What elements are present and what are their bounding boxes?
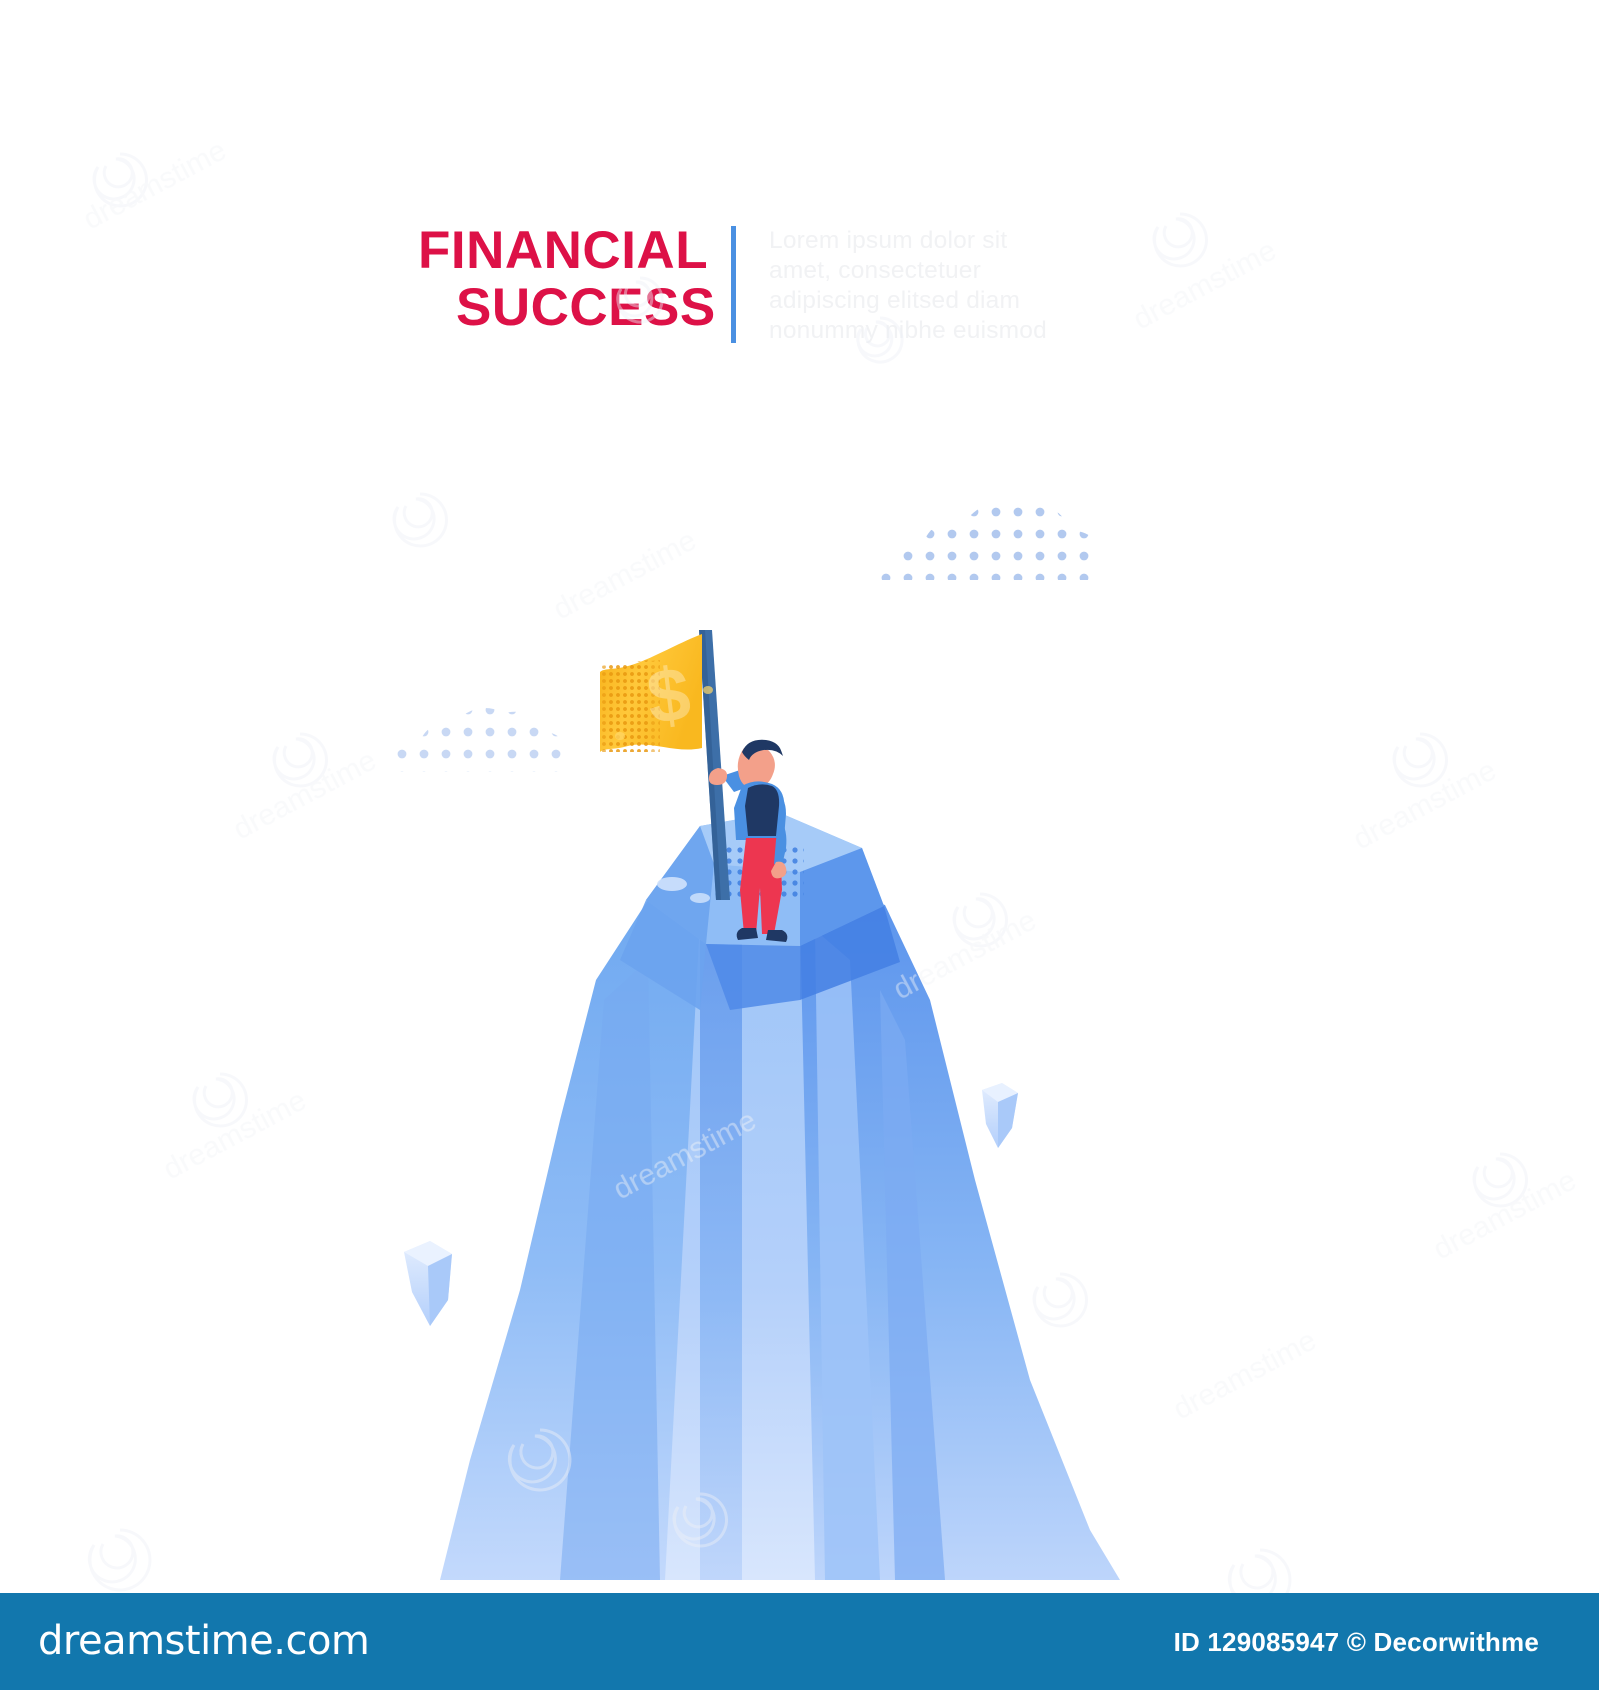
dollar-sign-glyph: $ (643, 651, 695, 741)
dreamstime-logo-text: dreamstime.com (38, 1618, 369, 1664)
headline-block: FINANCIAL SUCCESS Lorem ipsum dolor sit … (418, 222, 1058, 352)
flag-pole (699, 630, 730, 900)
svg-text:dreamstime: dreamstime (608, 1103, 762, 1206)
svg-text:dreamstime: dreamstime (548, 523, 702, 626)
image-id-credit: ID 129085947 © Decorwithme (1174, 1627, 1539, 1658)
dreamstime-logo[interactable]: dreamstime.com (38, 1618, 369, 1664)
floating-crystal-right (982, 1083, 1018, 1148)
subtitle-line-3: adipiscing elitsed diam (769, 286, 1047, 316)
subtitle-line-4: nonummy nibhe euismod (769, 316, 1047, 346)
svg-text:dreamstime: dreamstime (1168, 1323, 1322, 1426)
svg-text:dreamstime: dreamstime (228, 743, 382, 846)
dotted-cloud-left (383, 708, 566, 772)
svg-text:dreamstime: dreamstime (1128, 233, 1282, 336)
mountain-peak (440, 812, 1120, 1580)
subtitle-column: Lorem ipsum dolor sit amet, consectetuer… (769, 222, 1047, 346)
svg-text:dreamstime: dreamstime (78, 133, 232, 236)
page-title-line-2: SUCCESS (418, 279, 708, 336)
floating-crystal-left (404, 1241, 452, 1326)
subtitle-line-2: amet, consectetuer (769, 256, 1047, 286)
svg-text:dreamstime: dreamstime (1428, 1163, 1582, 1266)
title-column: FINANCIAL SUCCESS (418, 222, 708, 336)
vertical-divider (731, 226, 736, 343)
plateau-dot-texture (712, 845, 804, 901)
page-title-line-1: FINANCIAL (418, 222, 708, 279)
svg-text:dreamstime: dreamstime (158, 1083, 312, 1186)
svg-text:dreamstime: dreamstime (888, 903, 1042, 1006)
businessman (709, 740, 787, 942)
subtitle-line-1: Lorem ipsum dolor sit (769, 226, 1047, 256)
illustration-canvas: $ (0, 0, 1599, 1690)
svg-text:$: $ (643, 651, 695, 741)
dotted-cloud-right (880, 502, 1100, 580)
footer-bar: dreamstime.com ID 129085947 © Decorwithm… (0, 1593, 1599, 1690)
dollar-flag: $ (600, 634, 713, 752)
svg-text:dreamstime: dreamstime (1348, 753, 1502, 856)
